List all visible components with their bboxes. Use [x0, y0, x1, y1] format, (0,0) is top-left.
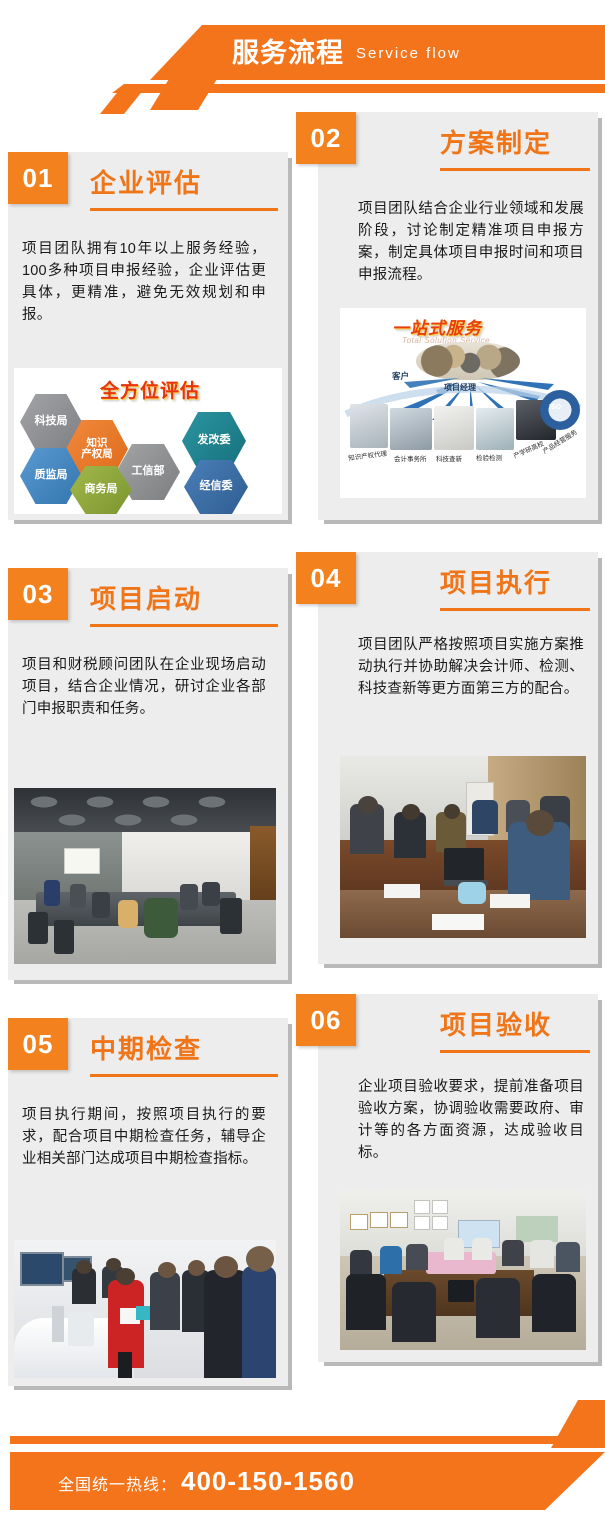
service-label-testing: 检验检测: [476, 452, 502, 462]
step-body-01: 项目团队拥有10年以上服务经验，100多种项目申报经验，企业评估更具体，更精准，…: [22, 238, 266, 326]
footer-hotline-number[interactable]: 400-150-1560: [181, 1466, 355, 1497]
step-photo-06: [340, 1190, 586, 1350]
hex-label: 科技局: [35, 416, 68, 428]
hex-label: 经信委: [200, 481, 233, 493]
step-body-03: 项目和财税顾问团队在企业现场启动项目，结合企业情况，研讨企业各部门申报职责和任务…: [22, 654, 266, 720]
hex-label: 商务局: [85, 484, 118, 496]
title-rule-04: [440, 608, 590, 611]
footer-stripe: [10, 1436, 605, 1444]
service-label-accounting: 会计事务所: [394, 453, 427, 463]
hex-label: 发改委: [198, 435, 231, 447]
service-diagram-label-manager: 项目经理: [444, 382, 476, 393]
step-badge-02: 02: [296, 112, 356, 164]
step-card-04[interactable]: 项目执行 项目团队严格按照项目实施方案推动执行并协助解决会计师、检测、科技查新等…: [318, 552, 598, 964]
step-photo-04: [340, 756, 586, 938]
step-badge-05: 05: [8, 1018, 68, 1070]
step-body-04: 项目团队严格按照项目实施方案推动执行并协助解决会计师、检测、科技查新等更方面第三…: [358, 634, 584, 700]
step-title-02: 方案制定: [440, 130, 552, 156]
header-stripe: [112, 84, 605, 93]
header-title-group: 服务流程 Service flow: [0, 28, 605, 78]
step-photo-03: [14, 788, 276, 964]
thumb-search: [434, 406, 474, 450]
step-card-06[interactable]: 项目验收 企业项目验收要求，提前准备项目验收方案，协调验收需要政府、审计等的各方…: [318, 994, 598, 1362]
hexagon-chart: 全方位评估 科技局 知识 产权局 质监局 工信部 商务局 发改委 经信委: [14, 368, 282, 514]
step-body-06: 企业项目验收要求，提前准备项目验收方案，协调验收需要政府、审计等的各方面资源，达…: [358, 1076, 584, 1164]
page-header: 服务流程 Service flow: [0, 0, 605, 110]
step-title-03: 项目启动: [90, 586, 202, 612]
page-subtitle: Service flow: [356, 46, 461, 61]
footer-hotline-label: 全国统一热线：: [58, 1471, 177, 1495]
step-badge-06: 06: [296, 994, 356, 1046]
hex-node-jingxinwei: 经信委: [184, 460, 248, 514]
step-title-06: 项目验收: [440, 1012, 552, 1038]
step-card-02[interactable]: 方案制定 项目团队结合企业行业领域和发展阶段，讨论制定精准项目申报方案，制定具体…: [318, 112, 598, 520]
service-label-search: 科技查新: [436, 453, 462, 463]
title-rule-05: [90, 1074, 278, 1077]
page-footer: 全国统一热线： 400-150-1560: [0, 1400, 605, 1510]
step-title-01: 企业评估: [90, 170, 202, 196]
step-badge-04: 04: [296, 552, 356, 604]
step-body-02: 项目团队结合企业行业领域和发展阶段，讨论制定精准项目申报方案，制定具体项目申报时…: [358, 198, 584, 286]
service-label-university: 产学研高校: [511, 438, 545, 460]
step-photo-05: [14, 1240, 276, 1378]
hexagon-chart-title: 全方位评估: [100, 376, 200, 403]
service-flow-page: 服务流程 Service flow 全方位评估 科技局 知识 产权局 质监局 工…: [0, 0, 605, 1538]
title-rule-01: [90, 208, 278, 211]
step-title-04: 项目执行: [440, 570, 552, 596]
thumb-ip: [350, 404, 388, 448]
footer-hotline: 全国统一热线： 400-150-1560: [58, 1466, 355, 1497]
title-rule-06: [440, 1050, 590, 1053]
iso-seal-text: ISO: [549, 404, 561, 411]
thumb-accounting: [390, 408, 432, 450]
page-title: 服务流程: [232, 40, 344, 67]
step-title-05: 中期检查: [90, 1036, 202, 1062]
service-label-ip: 知识产权代理: [348, 448, 388, 463]
title-rule-02: [440, 168, 590, 171]
service-diagram-label-customer: 客户: [392, 370, 409, 382]
service-diagram: 一站式服务 Total Solution Service 客户: [340, 308, 586, 498]
hex-label: 质监局: [35, 470, 68, 482]
hex-label: 工信部: [132, 466, 165, 478]
step-badge-01: 01: [8, 152, 68, 204]
title-rule-03: [90, 624, 278, 627]
step-body-05: 项目执行期间，按照项目执行的要求，配合项目中期检查任务，辅导企业相关部门达成项目…: [22, 1104, 266, 1170]
hex-label: 知识 产权局: [81, 438, 113, 460]
thumb-testing: [476, 408, 514, 450]
step-badge-03: 03: [8, 568, 68, 620]
